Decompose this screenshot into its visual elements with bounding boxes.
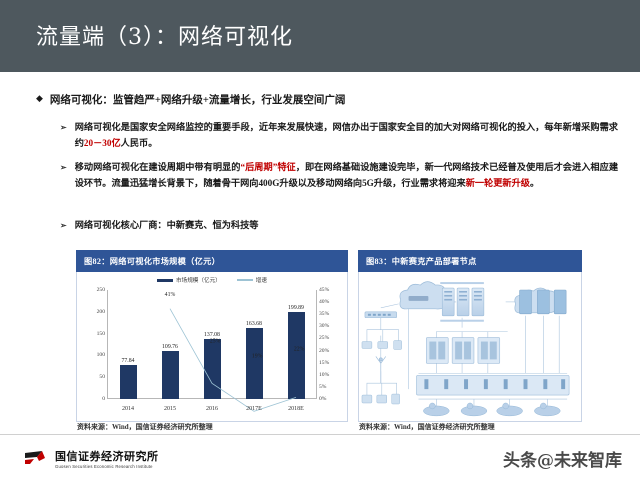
growth-value-label: 25% bbox=[210, 339, 221, 345]
growth-value-label: 41% bbox=[165, 292, 176, 298]
client-devices-icons bbox=[362, 341, 402, 350]
x-tick: 2017E bbox=[233, 406, 275, 412]
guosen-logo-icon bbox=[24, 449, 50, 469]
y2-tick: 35% bbox=[319, 311, 345, 317]
big-data-platform-icon bbox=[416, 375, 569, 395]
y-tick: 0 bbox=[79, 396, 105, 402]
bullet-level2-2: ➢ 移动网络可视化在建设周期中带有明显的“后周期”特征，即在网络基础设施建设完毕… bbox=[60, 160, 618, 191]
x-tick: 2016 bbox=[191, 406, 233, 412]
bullet-level1: ◆ 网络可视化：监管趋严+网络升级+流量增长，行业发展空间广阔 bbox=[36, 92, 620, 107]
analysis-server-cluster-icon bbox=[440, 282, 484, 322]
growth-value-label: 22% bbox=[294, 346, 305, 352]
network-topology-diagram bbox=[359, 272, 581, 421]
bullet-level2-2-text: 移动网络可视化在建设周期中带有明显的“后周期”特征，即在网络基础设施建设完毕，新… bbox=[75, 160, 618, 191]
logo-text-cn: 国信证券经济研究所 bbox=[55, 448, 159, 464]
institute-logo: 国信证券经济研究所 Guosen Securities Economic Res… bbox=[24, 448, 159, 469]
y2-tick: 30% bbox=[319, 323, 345, 329]
x-axis-labels: 2014201520162017E2018E bbox=[107, 406, 317, 412]
y-axis-labels: 050100150200250 bbox=[79, 290, 105, 399]
y2-tick: 45% bbox=[319, 287, 345, 293]
y2-tick: 15% bbox=[319, 360, 345, 366]
y-tick: 200 bbox=[79, 309, 105, 315]
figure-left-title: 图82：网络可视化市场规模（亿元） bbox=[76, 250, 348, 272]
slide-content: ◆ 网络可视化：监管趋严+网络升级+流量增长，行业发展空间广阔 ➢ 网络可视化是… bbox=[0, 72, 640, 432]
arrow-bullet-icon: ➢ bbox=[60, 218, 67, 234]
antenna-tower-icon bbox=[376, 356, 386, 383]
y-tick: 100 bbox=[79, 352, 105, 358]
chart-plot-area: 050100150200250 0%5%10%15%20%25%30%35%40… bbox=[107, 290, 317, 399]
bullet-level2-1-text: 网络可视化是国家安全网络监控的重要手段，近年来发展快速，网信办出于国家安全目的加… bbox=[75, 120, 618, 151]
x-tick: 2015 bbox=[149, 406, 191, 412]
y2-tick: 5% bbox=[319, 384, 345, 390]
remote-server-cluster-icon bbox=[520, 290, 567, 314]
growth-value-label: 19% bbox=[252, 354, 263, 360]
switch-icon bbox=[365, 312, 397, 318]
y-tick: 150 bbox=[79, 331, 105, 337]
figure-right-title: 图83：中新赛克产品部署节点 bbox=[358, 250, 582, 272]
y2-tick: 20% bbox=[319, 348, 345, 354]
chart-legend: 市场规模（亿元） 增速 bbox=[77, 276, 347, 284]
slide: 流量端（3）：网络可视化 ◆ 网络可视化：监管趋严+网络升级+流量增长，行业发展… bbox=[0, 0, 640, 480]
y2-tick: 40% bbox=[319, 299, 345, 305]
y2-tick: 10% bbox=[319, 372, 345, 378]
y2-axis-labels: 0%5%10%15%20%25%30%35%40%45% bbox=[319, 290, 345, 399]
legend-label-line: 增速 bbox=[256, 276, 267, 284]
bullet-level1-text: 网络可视化：监管趋严+网络升级+流量增长，行业发展空间广阔 bbox=[50, 92, 345, 107]
bullet-level2-3: ➢ 网络可视化核心厂商：中新赛克、恒为科技等 bbox=[60, 218, 618, 234]
footer-divider bbox=[0, 434, 640, 435]
business-node-racks-icon bbox=[426, 338, 499, 364]
page-title: 流量端（3）：网络可视化 bbox=[36, 19, 293, 51]
bullet-level2-3-text: 网络可视化核心厂商：中新赛克、恒为科技等 bbox=[75, 218, 259, 234]
legend-item-line: 增速 bbox=[237, 276, 267, 284]
logo-text-en: Guosen Securities Economic Research Inst… bbox=[55, 464, 159, 469]
arrow-bullet-icon: ➢ bbox=[60, 120, 67, 136]
legend-item-bar: 市场规模（亿元） bbox=[157, 276, 221, 284]
figure-panel-left: 图82：网络可视化市场规模（亿元） 市场规模（亿元） 增速 bbox=[76, 250, 348, 422]
x-tick: 2018E bbox=[275, 406, 317, 412]
legend-label-bar: 市场规模（亿元） bbox=[176, 276, 221, 284]
figure-right-source: 资料来源：Wind，国信证券经济研究所整理 bbox=[359, 422, 495, 432]
diamond-bullet-icon: ◆ bbox=[36, 92, 43, 105]
bullet-level2-1: ➢ 网络可视化是国家安全网络监控的重要手段，近年来发展快速，网信办出于国家安全目… bbox=[60, 120, 618, 151]
y2-tick: 25% bbox=[319, 335, 345, 341]
watermark: 头条@未来智库 bbox=[503, 446, 622, 471]
y-tick: 50 bbox=[79, 374, 105, 380]
slide-header: 流量端（3）：网络可视化 bbox=[0, 0, 640, 72]
arrow-bullet-icon: ➢ bbox=[60, 160, 67, 176]
x-tick: 2014 bbox=[107, 406, 149, 412]
mobile-devices-icons bbox=[362, 394, 400, 404]
growth-line bbox=[170, 309, 296, 412]
legend-swatch-bar-icon bbox=[157, 279, 173, 282]
y-tick: 250 bbox=[79, 287, 105, 293]
figure-right-body: 资料来源：Wind，国信证券经济研究所整理 bbox=[358, 272, 582, 422]
figure-panel-right: 图83：中新赛克产品部署节点 bbox=[358, 250, 582, 422]
legend-swatch-line-icon bbox=[237, 279, 253, 281]
figure-left-source: 资料来源：Wind，国信证券经济研究所整理 bbox=[77, 422, 213, 432]
figure-left-body: 市场规模（亿元） 增速 050100150200250 0%5%10%15%20… bbox=[76, 272, 348, 422]
end-user-groups-icons bbox=[423, 403, 560, 416]
y2-tick: 0% bbox=[319, 396, 345, 402]
topology-svg bbox=[359, 272, 581, 421]
market-size-chart: 市场规模（亿元） 增速 050100150200250 0%5%10%15%20… bbox=[77, 272, 347, 421]
